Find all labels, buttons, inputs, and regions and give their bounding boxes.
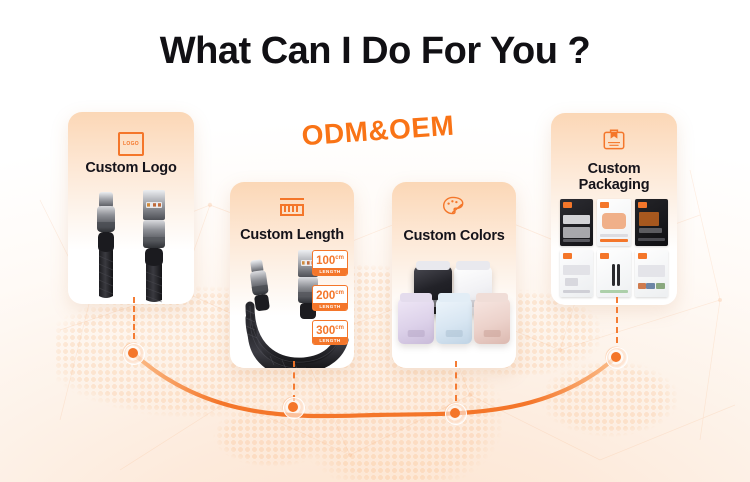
package-mockup — [635, 250, 668, 297]
logo-square-icon: LOGO — [118, 132, 144, 156]
package-mockup — [560, 250, 593, 297]
length-badge-100-value: 100cm — [313, 251, 347, 268]
card-custom-logo[interactable]: LOGO Custom Logo — [68, 112, 194, 304]
node-ring — [283, 397, 305, 419]
power-bank-color-group — [392, 260, 516, 356]
length-badge-100-label: LENGTH — [313, 268, 347, 275]
promo-banner: What Can I Do For You ? ODM&OEM LOGO Cus… — [0, 0, 750, 482]
odm-oem-badge: ODM&OEM — [289, 109, 467, 153]
package-mockup — [597, 250, 630, 297]
node-dot — [128, 348, 138, 358]
length-badge-300-label: LENGTH — [313, 337, 347, 344]
node-custom-packaging[interactable] — [603, 344, 629, 370]
power-bank-pink — [474, 298, 510, 344]
power-bank-blue — [436, 298, 472, 344]
node-custom-length[interactable] — [280, 394, 306, 420]
node-dot — [288, 402, 298, 412]
length-badge-200: 200cm LENGTH — [312, 285, 348, 311]
cable-illustration-logo — [68, 186, 194, 304]
ruler-icon — [279, 198, 305, 217]
node-dot — [611, 352, 621, 362]
card-custom-logo-title: Custom Logo — [68, 160, 194, 176]
ruler-icon-wrap — [230, 198, 354, 217]
length-badge-list: 100cm LENGTH 200cm LENGTH 300cm LENGTH — [312, 250, 348, 345]
timeline-arc-path — [0, 295, 750, 445]
logo-icon-text: LOGO — [123, 141, 139, 147]
package-mockup — [560, 199, 593, 246]
power-bank-purple — [398, 298, 434, 344]
node-halo — [120, 340, 146, 366]
node-custom-colors[interactable] — [442, 400, 468, 426]
package-box-icon-wrap — [551, 129, 677, 150]
card-custom-packaging-title: Custom Packaging — [551, 161, 677, 193]
node-ring — [606, 347, 628, 369]
logo-square-icon-wrap: LOGO — [68, 132, 194, 156]
palette-icon-wrap — [392, 196, 516, 217]
page-title: What Can I Do For You ? — [0, 30, 750, 73]
node-ring — [123, 343, 145, 365]
card-custom-colors[interactable]: Custom Colors — [392, 182, 516, 368]
card-custom-length[interactable]: Custom Length — [230, 182, 354, 368]
card-custom-packaging[interactable]: Custom Packaging — [551, 113, 677, 305]
odm-oem-text: ODM&OEM — [301, 110, 456, 153]
card-custom-length-title: Custom Length — [230, 227, 354, 243]
packaging-mockup-grid — [560, 199, 668, 297]
node-custom-logo[interactable] — [120, 340, 146, 366]
length-badge-300-value: 300cm — [313, 321, 347, 338]
node-halo — [603, 344, 629, 370]
length-badge-100: 100cm LENGTH — [312, 250, 348, 276]
timeline-arc — [0, 295, 750, 445]
length-badge-200-value: 200cm — [313, 286, 347, 303]
length-badge-200-label: LENGTH — [313, 303, 347, 310]
card-custom-colors-title: Custom Colors — [392, 228, 516, 244]
package-box-icon — [603, 129, 625, 150]
length-badge-300: 300cm LENGTH — [312, 320, 348, 346]
node-halo — [280, 394, 306, 420]
package-mockup — [597, 199, 630, 246]
package-mockup — [635, 199, 668, 246]
palette-icon — [442, 196, 466, 217]
node-halo — [442, 400, 468, 426]
node-dot — [450, 408, 460, 418]
node-ring — [445, 403, 467, 425]
